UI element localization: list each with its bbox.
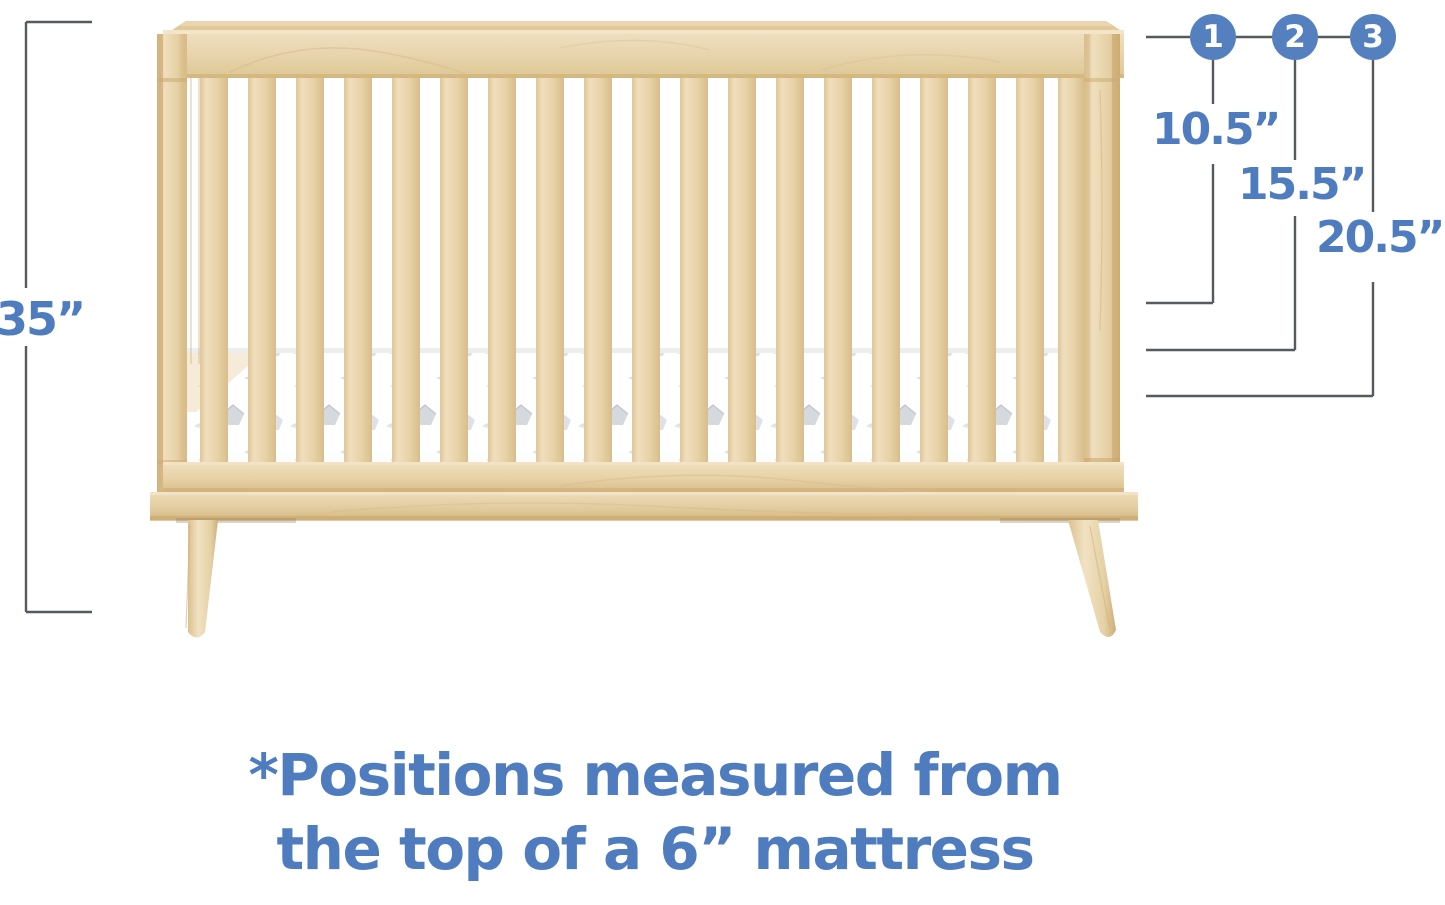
height-dimension-label: 35” bbox=[0, 296, 84, 342]
asterisk-icon: * bbox=[248, 741, 277, 809]
crib-leg-right bbox=[1068, 520, 1116, 637]
leg-shadow-left bbox=[176, 518, 296, 523]
crib-slats bbox=[200, 78, 1084, 464]
crib-mattress bbox=[186, 348, 1088, 464]
caption-line-1-text: Positions measured from bbox=[277, 741, 1061, 809]
crib-far-rail-edge bbox=[180, 21, 1112, 26]
position-measurement-3: 20.5” bbox=[1316, 216, 1443, 260]
crib-leg-left bbox=[186, 520, 218, 638]
caption-line-2: the top of a 6” mattress bbox=[150, 812, 1160, 886]
position-badge-1[interactable]: 1 bbox=[1190, 14, 1236, 60]
position-badge-2[interactable]: 2 bbox=[1272, 14, 1318, 60]
crib-top-rail bbox=[163, 30, 1124, 78]
position-measurement-2: 15.5” bbox=[1238, 163, 1365, 207]
position-measurement-1: 10.5” bbox=[1152, 108, 1279, 152]
crib-right-post bbox=[1084, 34, 1120, 516]
footnote-caption: *Positions measured from the top of a 6”… bbox=[150, 738, 1160, 886]
crib-bottom-rail bbox=[163, 462, 1124, 494]
caption-line-1: *Positions measured from bbox=[150, 738, 1160, 812]
crib-back-rail bbox=[172, 21, 1120, 36]
crib-left-post bbox=[157, 34, 200, 516]
leg-shadow-right bbox=[1000, 518, 1120, 523]
crib-base-board bbox=[150, 492, 1138, 521]
position-badge-3[interactable]: 3 bbox=[1350, 14, 1396, 60]
diagram-canvas: 35” 1 2 3 10.5” 15.5” 20.5” *Positions m… bbox=[0, 0, 1445, 905]
